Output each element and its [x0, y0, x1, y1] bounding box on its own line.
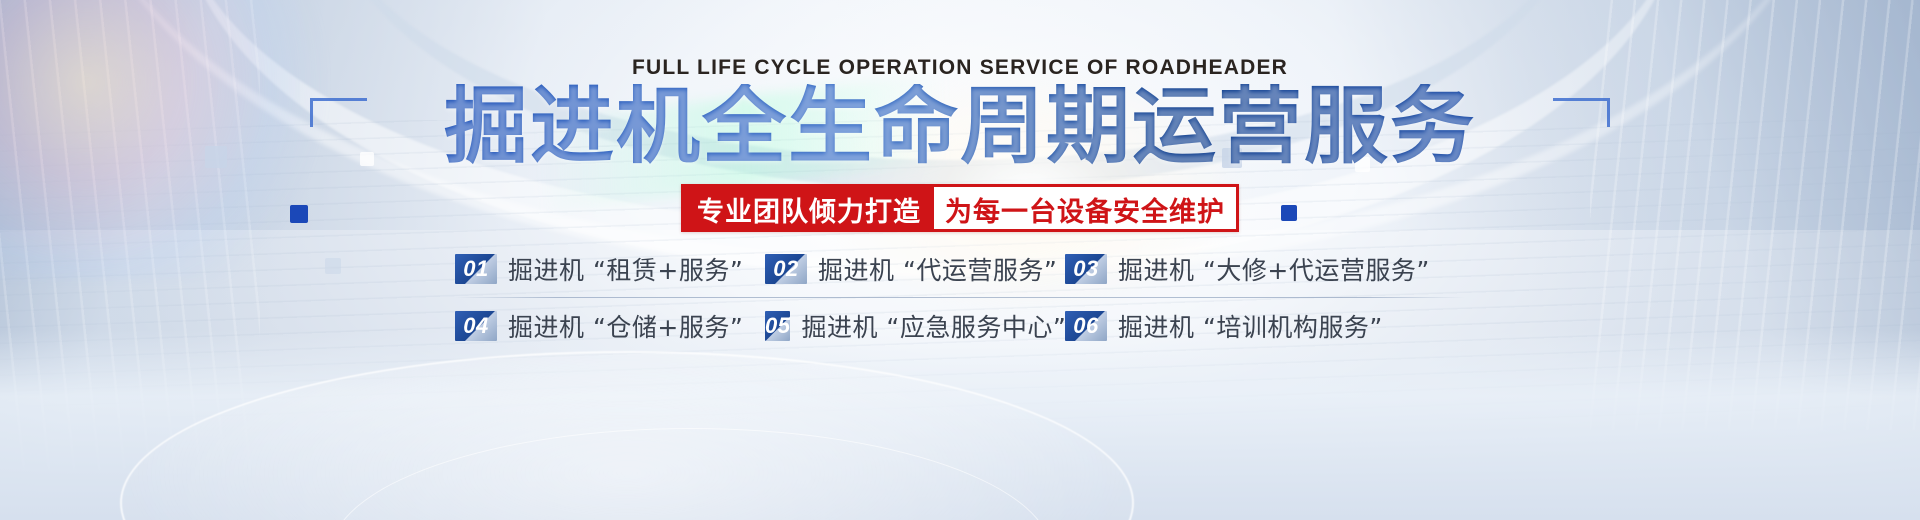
service-label-05: 掘进机 “应急服务中心”: [801, 308, 1066, 344]
promotional-banner: FULL LIFE CYCLE OPERATION SERVICE OF ROA…: [0, 0, 1920, 520]
main-headline: 掘进机全生命周期运营服务: [0, 84, 1920, 168]
banner-content: FULL LIFE CYCLE OPERATION SERVICE OF ROA…: [0, 0, 1920, 520]
tagline-left: 专业团队倾力打造: [684, 187, 934, 229]
service-list-divider: [455, 297, 1465, 298]
service-number-01: 01: [455, 254, 497, 284]
service-number-02: 02: [765, 254, 807, 284]
tagline-banner: 专业团队倾力打造 为每一台设备安全维护: [681, 184, 1239, 232]
service-list: 01 掘进机 “租赁+服务” 02 掘进机 “代运营服务” 03 掘进机 “大修…: [455, 243, 1465, 352]
service-label-04: 掘进机 “仓储+服务”: [508, 308, 743, 344]
service-item-05[interactable]: 05 掘进机 “应急服务中心”: [765, 308, 1065, 344]
tagline-right: 为每一台设备安全维护: [934, 187, 1236, 229]
service-number-04: 04: [455, 311, 497, 341]
service-item-06[interactable]: 06 掘进机 “培训机构服务”: [1065, 308, 1383, 344]
service-item-04[interactable]: 04 掘进机 “仓储+服务”: [455, 308, 765, 344]
service-row-bottom: 04 掘进机 “仓储+服务” 05 掘进机 “应急服务中心” 06 掘进机 “培…: [455, 300, 1465, 352]
service-number-05: 05: [765, 311, 790, 341]
service-item-01[interactable]: 01 掘进机 “租赁+服务”: [455, 251, 765, 287]
service-number-06: 06: [1065, 311, 1107, 341]
service-number-03: 03: [1065, 254, 1107, 284]
service-label-03: 掘进机 “大修+代运营服务”: [1118, 251, 1430, 287]
service-label-02: 掘进机 “代运营服务”: [818, 251, 1057, 287]
service-item-03[interactable]: 03 掘进机 “大修+代运营服务”: [1065, 251, 1430, 287]
service-row-top: 01 掘进机 “租赁+服务” 02 掘进机 “代运营服务” 03 掘进机 “大修…: [455, 243, 1465, 295]
service-label-01: 掘进机 “租赁+服务”: [508, 251, 743, 287]
service-label-06: 掘进机 “培训机构服务”: [1118, 308, 1383, 344]
service-item-02[interactable]: 02 掘进机 “代运营服务”: [765, 251, 1065, 287]
